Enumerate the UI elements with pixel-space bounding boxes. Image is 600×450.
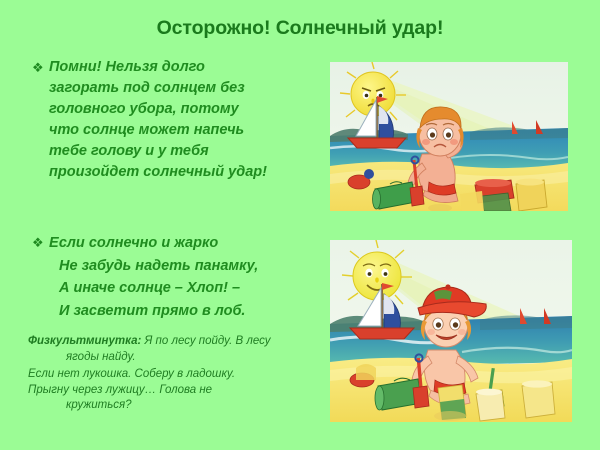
boat-hull — [350, 328, 414, 339]
fizminutka-label: Физкультминутка: — [28, 335, 141, 347]
child-sunburn-cheek-left — [422, 139, 430, 145]
fizminutka-line-3: Прыгну через лужицу… Голова не — [28, 383, 318, 399]
bullet-block-2: ❖ Если солнечно и жарко Не забудь надеть… — [32, 232, 317, 322]
beach-scene-happy-svg — [330, 240, 572, 422]
bullet-1-line-5: тебе голову и у тебя — [49, 141, 317, 162]
fizminutka-line-1-rest: Я по лесу пойду. В лесу — [141, 335, 270, 347]
happy-child-in-hat-beach-illustration — [330, 240, 572, 422]
child-cheek-right — [458, 329, 466, 335]
sun-disc — [353, 252, 401, 300]
diamond-bullet-icon: ❖ — [32, 57, 49, 78]
sun-nose — [375, 277, 379, 282]
bullet-1-line-4: что солнце может напечь — [49, 120, 317, 141]
cap-patch — [434, 290, 452, 300]
bullet-1-line-1: Помни! Нельзя долго — [49, 57, 317, 78]
blue-ball — [364, 169, 374, 179]
bullet-2-line-3: А иначе солнце – Хлоп! – — [49, 277, 317, 300]
beach-scene-sad-svg — [330, 62, 568, 211]
fizminutka-line-2: Если нет лукошка. Соберу в ладошку. — [28, 367, 318, 383]
fizminutka-line-3-cont: кружиться? — [28, 398, 318, 414]
child-cheek-left — [427, 329, 435, 335]
bullet-1-line-3: головного убора, потому — [49, 99, 317, 120]
bullet-2-line-2: Не забудь надеть панамку, — [49, 255, 317, 278]
sand-pile — [434, 411, 466, 421]
far-shore-right — [470, 127, 568, 140]
bullet-1-body: Помни! Нельзя долго загорать под солнцем… — [49, 57, 317, 183]
bullet-2-line-4: И засветит прямо в лоб. — [49, 300, 317, 323]
child-sunburn-cheek-right — [450, 139, 458, 145]
fizminutka-line-1: Физкультминутка: Я по лесу пойду. В лесу — [28, 334, 318, 350]
slide-canvas: Осторожно! Солнечный удар! ❖ Помни! Нель… — [0, 0, 600, 450]
sand-mound-left — [356, 364, 376, 380]
boat-hull — [348, 138, 406, 148]
fizminutka-note: Физкультминутка: Я по лесу пойду. В лесу… — [28, 334, 318, 414]
fizminutka-line-1-cont: ягоды найду. — [28, 350, 318, 366]
text-column: ❖ Помни! Нельзя долго загорать под солнц… — [0, 0, 325, 450]
bullet-2-line-1: Если солнечно и жарко — [49, 232, 317, 255]
fizminutka-paragraph-1: Физкультминутка: Я по лесу пойду. В лесу… — [28, 334, 318, 365]
sunburnt-child-beach-illustration — [330, 62, 568, 211]
bullet-block-1: ❖ Помни! Нельзя долго загорать под солнц… — [32, 57, 317, 183]
bullet-1-line-6: произойдет солнечный удар! — [49, 162, 317, 183]
diamond-bullet-icon: ❖ — [32, 232, 49, 254]
cap-button — [445, 284, 450, 289]
bullet-1-line-2: загорать под солнцем без — [49, 78, 317, 99]
bullet-2-body: Если солнечно и жарко Не забудь надеть п… — [49, 232, 317, 322]
